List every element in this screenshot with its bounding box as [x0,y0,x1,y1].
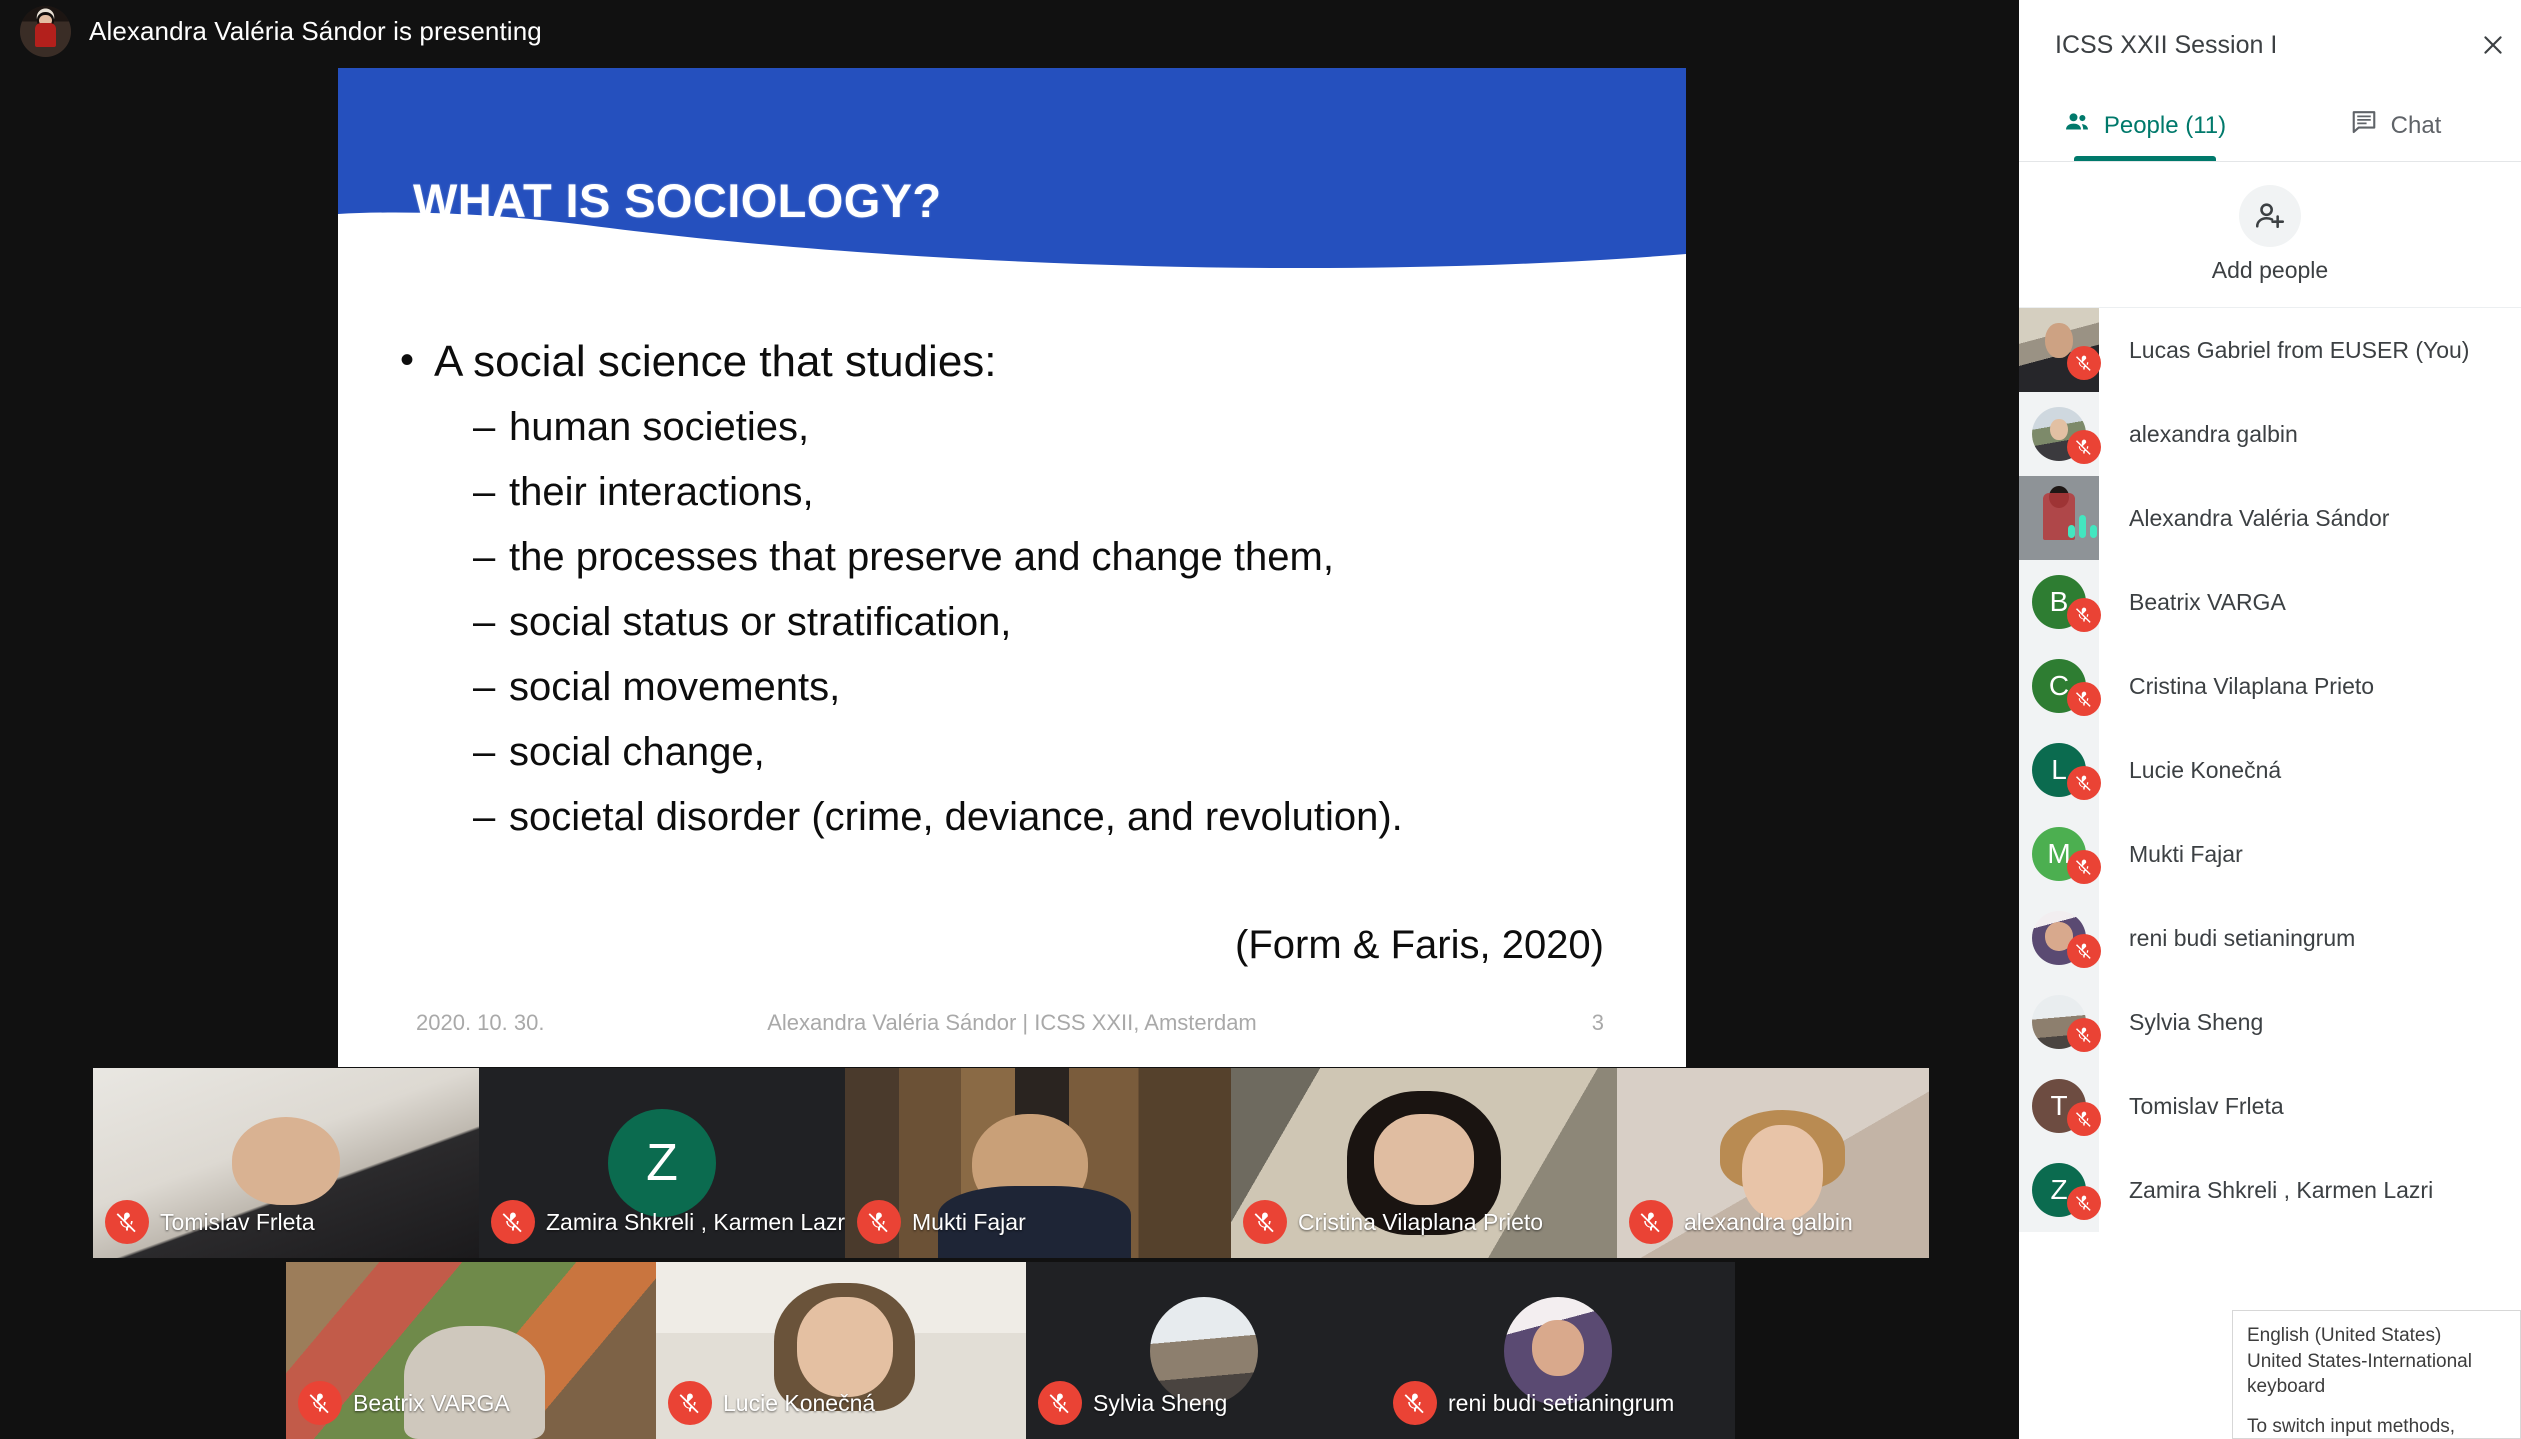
mic-muted-icon[interactable] [2067,1018,2101,1052]
tile-label: Tomislav Frleta [93,1200,315,1244]
meeting-window: Alexandra Valéria Sándor is presenting W… [0,0,2521,1439]
slide-sub-bullet: –social movements, [338,667,1686,707]
mic-muted-icon [1038,1381,1082,1425]
mic-muted-icon [1629,1200,1673,1244]
speaking-indicator-icon [2068,514,2097,538]
slide-bullet-main-text: A social science that studies: [434,340,997,384]
add-people-label: Add people [2212,257,2328,284]
panel-header: ICSS XXII Session I [2019,0,2521,90]
dash-icon: – [473,537,509,577]
mic-muted-icon[interactable] [2067,1102,2101,1136]
video-tile-row-2: Beatrix VARGALucie KonečnáSylvia Shengre… [286,1262,1735,1439]
slide-citation: (Form & Faris, 2020) [1235,923,1604,968]
tab-people[interactable]: People (11) [2019,90,2270,161]
tile-label: alexandra galbin [1617,1200,1853,1244]
presented-slide[interactable]: WHAT IS SOCIOLOGY? • A social science th… [338,68,1686,1067]
video-tile[interactable]: Sylvia Sheng [1026,1262,1381,1439]
slide-sub-bullet-text: social movements, [509,667,840,707]
side-panel: ICSS XXII Session I People (11) [2019,0,2521,1439]
tile-participant-name: alexandra galbin [1684,1209,1853,1236]
dash-icon: – [473,732,509,772]
slide-bullet-main: • A social science that studies: [338,340,1686,384]
participant-thumbnail: C [2019,644,2099,728]
mic-muted-icon [1393,1381,1437,1425]
slide-sub-bullet: –societal disorder (crime, deviance, and… [338,797,1686,837]
slide-title: WHAT IS SOCIOLOGY? [413,173,942,228]
tile-participant-name: reni budi setianingrum [1448,1390,1674,1417]
people-list-item[interactable]: MMukti Fajar [2019,812,2521,896]
tile-participant-name: Tomislav Frleta [160,1209,315,1236]
slide-body: • A social science that studies: –human … [338,340,1686,862]
slide-sub-bullet-text: societal disorder (crime, deviance, and … [509,797,1403,837]
participant-name: Alexandra Valéria Sándor [2129,505,2389,532]
tile-participant-name: Cristina Vilaplana Prieto [1298,1209,1543,1236]
mic-muted-icon[interactable] [2067,430,2101,464]
kbd-tooltip-line1: English (United States) [2247,1323,2506,1349]
slide-sub-bullet-text: their interactions, [509,472,814,512]
people-icon [2063,108,2091,143]
participant-name: Mukti Fajar [2129,841,2243,868]
tile-label: Cristina Vilaplana Prieto [1231,1200,1543,1244]
participant-name: Beatrix VARGA [2129,589,2286,616]
slide-sub-bullet-text: human societies, [509,407,809,447]
people-list-item[interactable]: alexandra galbin [2019,392,2521,476]
slide-sub-bullet: –social status or stratification, [338,602,1686,642]
dash-icon: – [473,667,509,707]
mic-muted-icon [491,1200,535,1244]
video-tile[interactable]: ZZamira Shkreli , Karmen Lazri [479,1068,845,1258]
participant-name: Cristina Vilaplana Prieto [2129,673,2374,700]
slide-footer-date: 2020. 10. 30. [416,1010,544,1036]
panel-title: ICSS XXII Session I [2055,31,2277,60]
participant-name: Sylvia Sheng [2129,1009,2263,1036]
dash-icon: – [473,407,509,447]
people-list: Lucas Gabriel from EUSER (You)alexandra … [2019,308,2521,1232]
people-list-item[interactable]: Alexandra Valéria Sándor [2019,476,2521,560]
tile-participant-name: Zamira Shkreli , Karmen Lazri [546,1209,845,1236]
mic-muted-icon [668,1381,712,1425]
tile-label: Mukti Fajar [845,1200,1026,1244]
tab-chat-label: Chat [2391,112,2442,140]
tile-label: Beatrix VARGA [286,1381,510,1425]
dash-icon: – [473,472,509,512]
slide-sub-bullet: –social change, [338,732,1686,772]
dash-icon: – [473,602,509,642]
video-tile[interactable]: Lucie Konečná [656,1262,1026,1439]
participant-thumbnail [2019,476,2099,560]
tile-label: reni budi setianingrum [1381,1381,1674,1425]
people-list-item[interactable]: ZZamira Shkreli , Karmen Lazri [2019,1148,2521,1232]
people-list-item[interactable]: TTomislav Frleta [2019,1064,2521,1148]
slide-sub-bullets: –human societies,–their interactions,–th… [338,407,1686,837]
participant-thumbnail [2019,896,2099,980]
participant-name: reni budi setianingrum [2129,925,2355,952]
participant-thumbnail: T [2019,1064,2099,1148]
video-tile[interactable]: reni budi setianingrum [1381,1262,1735,1439]
people-list-item[interactable]: reni budi setianingrum [2019,896,2521,980]
add-people-button[interactable]: Add people [2019,162,2521,308]
slide-sub-bullet: –the processes that preserve and change … [338,537,1686,577]
slide-sub-bullet-text: the processes that preserve and change t… [509,537,1334,577]
slide-sub-bullet-text: social change, [509,732,765,772]
video-tile-row-1: Tomislav FrletaZZamira Shkreli , Karmen … [93,1068,1929,1258]
close-icon[interactable] [2473,25,2513,65]
video-tile[interactable]: Tomislav Frleta [93,1068,479,1258]
mic-muted-icon[interactable] [2067,850,2101,884]
participant-name: Tomislav Frleta [2129,1093,2284,1120]
meeting-stage: Alexandra Valéria Sándor is presenting W… [0,0,2019,1439]
mic-muted-icon [857,1200,901,1244]
slide-footer: 2020. 10. 30. Alexandra Valéria Sándor |… [338,1010,1686,1040]
mic-muted-icon[interactable] [2067,766,2101,800]
mic-muted-icon [298,1381,342,1425]
participant-thumbnail: M [2019,812,2099,896]
slide-footer-center: Alexandra Valéria Sándor | ICSS XXII, Am… [767,1010,1257,1036]
participant-name: Lucas Gabriel from EUSER (You) [2129,337,2469,364]
tab-people-label: People (11) [2104,112,2226,140]
people-list-item[interactable]: Lucas Gabriel from EUSER (You) [2019,308,2521,392]
people-list-item[interactable]: CCristina Vilaplana Prieto [2019,644,2521,728]
tile-label: Zamira Shkreli , Karmen Lazri [479,1200,845,1244]
participant-name: Lucie Konečná [2129,757,2281,784]
people-list-item[interactable]: LLucie Konečná [2019,728,2521,812]
mic-muted-icon [1243,1200,1287,1244]
slide-sub-bullet: –human societies, [338,407,1686,447]
tile-participant-name: Sylvia Sheng [1093,1390,1227,1417]
mic-muted-icon[interactable] [2067,1186,2101,1220]
mic-muted-icon[interactable] [2067,934,2101,968]
slide-sub-bullet-text: social status or stratification, [509,602,1011,642]
panel-tabs: People (11) Chat [2019,90,2521,162]
tile-label: Sylvia Sheng [1026,1381,1227,1425]
kbd-tooltip-line3: To switch input methods, press [2247,1414,2506,1439]
tile-participant-name: Beatrix VARGA [353,1390,510,1417]
participant-thumbnail: Z [2019,1148,2099,1232]
mic-muted-icon [105,1200,149,1244]
keyboard-layout-tooltip: English (United States) United States-In… [2232,1310,2521,1439]
dash-icon: – [473,797,509,837]
slide-sub-bullet: –their interactions, [338,472,1686,512]
tile-participant-name: Lucie Konečná [723,1390,875,1417]
mic-muted-icon[interactable] [2067,598,2101,632]
participant-thumbnail [2019,392,2099,476]
presenter-avatar [20,6,71,57]
people-list-item[interactable]: Sylvia Sheng [2019,980,2521,1064]
mic-muted-icon[interactable] [2067,682,2101,716]
tile-label: Lucie Konečná [656,1381,875,1425]
people-list-item[interactable]: BBeatrix VARGA [2019,560,2521,644]
participant-thumbnail [2019,308,2099,392]
slide-page-number: 3 [1592,1010,1604,1036]
participant-thumbnail: L [2019,728,2099,812]
participant-name: Zamira Shkreli , Karmen Lazri [2129,1177,2433,1204]
tab-chat[interactable]: Chat [2270,90,2521,161]
participant-name: alexandra galbin [2129,421,2298,448]
participant-thumbnail: B [2019,560,2099,644]
tile-participant-name: Mukti Fajar [912,1209,1026,1236]
mic-muted-icon[interactable] [2067,346,2101,380]
presenting-banner: Alexandra Valéria Sándor is presenting [0,0,2019,62]
add-person-icon [2239,185,2301,247]
video-tile[interactable]: Mukti Fajar [845,1068,1231,1258]
chat-icon [2350,108,2378,143]
video-tile[interactable]: Beatrix VARGA [286,1262,656,1439]
kbd-tooltip-line2: United States-International keyboard [2247,1349,2506,1400]
video-tile[interactable]: alexandra galbin [1617,1068,1929,1258]
video-tile[interactable]: Cristina Vilaplana Prieto [1231,1068,1617,1258]
bullet-dot-icon: • [400,340,434,380]
participant-thumbnail [2019,980,2099,1064]
presenting-label: Alexandra Valéria Sándor is presenting [89,16,542,47]
